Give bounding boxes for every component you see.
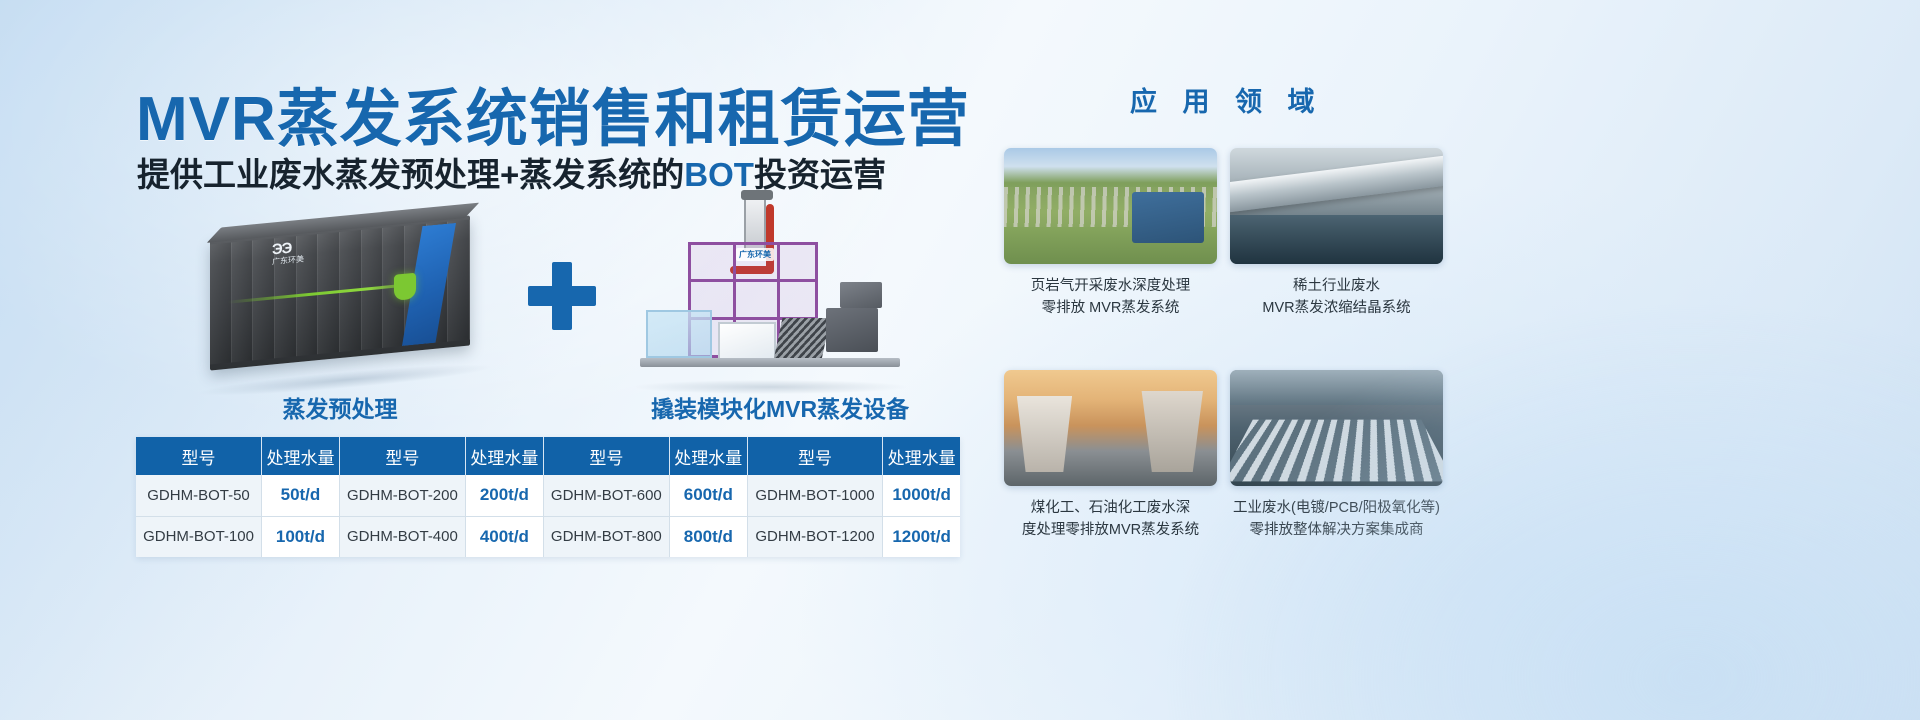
table-cell-capacity: 800t/d [669, 516, 747, 557]
subtitle-highlight-bot: BOT [684, 156, 754, 193]
plus-icon [528, 262, 596, 330]
product-caption-pretreatment: 蒸发预处理 [210, 390, 470, 424]
wastewater-basin-photo [1230, 370, 1443, 486]
table-cell-model: GDHM-BOT-600 [543, 475, 669, 516]
table-cell-model: GDHM-BOT-200 [339, 475, 465, 516]
table-row: GDHM-BOT-50 50t/d GDHM-BOT-200 200t/d GD… [136, 475, 960, 516]
table-cell-model: GDHM-BOT-50 [136, 475, 262, 516]
table-header-cell: 处理水量 [883, 437, 960, 475]
application-card-caption: 工业废水(电镀/PCB/阳极氧化等) 零排放整体解决方案集成商 [1230, 497, 1443, 542]
coal-chemical-plant-photo [1004, 370, 1217, 486]
application-card-caption: 稀土行业废水 MVR蒸发浓缩结晶系统 [1230, 275, 1443, 320]
page-title: MVR蒸发系统销售和租赁运营 [136, 68, 970, 158]
table-header-cell: 型号 [747, 437, 883, 475]
table-cell-capacity: 100t/d [262, 516, 340, 557]
caption-line-2: MVR蒸发浓缩结晶系统 [1230, 297, 1443, 319]
model-capacity-table: 型号 处理水量 型号 处理水量 型号 处理水量 型号 处理水量 GDHM-BOT… [136, 437, 960, 557]
table-cell-capacity: 1000t/d [883, 475, 960, 516]
table-cell-capacity: 50t/d [262, 475, 340, 516]
table-cell-model: GDHM-BOT-1200 [747, 516, 883, 557]
table-header-cell: 型号 [543, 437, 669, 475]
rig-skid-deck [640, 358, 900, 367]
skid-mvr-equipment-image: 广东环美 [640, 190, 920, 390]
table-cell-model: GDHM-BOT-100 [136, 516, 262, 557]
applications-title: 应 用 领 域 [1130, 80, 1324, 119]
table-row: GDHM-BOT-100 100t/d GDHM-BOT-400 400t/d … [136, 516, 960, 557]
caption-line-1: 煤化工、石油化工废水深 [1004, 497, 1217, 519]
caption-line-2: 零排放整体解决方案集成商 [1230, 519, 1443, 541]
caption-line-1: 稀土行业废水 [1230, 275, 1443, 297]
application-card-caption: 煤化工、石油化工废水深 度处理零排放MVR蒸发系统 [1004, 497, 1217, 542]
mvr-promo-banner: MVR蒸发系统销售和租赁运营 提供工业废水蒸发预处理+蒸发系统的BOT投资运营 … [0, 0, 1920, 720]
product-caption-skid-mvr: 撬装模块化MVR蒸发设备 [610, 390, 950, 424]
application-card[interactable]: 工业废水(电镀/PCB/阳极氧化等) 零排放整体解决方案集成商 [1230, 370, 1443, 542]
application-card[interactable]: 煤化工、石油化工废水深 度处理零排放MVR蒸发系统 [1004, 370, 1217, 542]
caption-line-1: 工业废水(电镀/PCB/阳极氧化等) [1230, 497, 1443, 519]
table-header-cell: 型号 [339, 437, 465, 475]
table-cell-model: GDHM-BOT-400 [339, 516, 465, 557]
rig-heat-exchanger [774, 318, 831, 360]
table-header-cell: 处理水量 [262, 437, 340, 475]
table-header-row: 型号 处理水量 型号 处理水量 型号 处理水量 型号 处理水量 [136, 437, 960, 475]
application-card-caption: 页岩气开采废水深度处理 零排放 MVR蒸发系统 [1004, 275, 1217, 320]
table-cell-model: GDHM-BOT-800 [543, 516, 669, 557]
table-header-cell: 型号 [136, 437, 262, 475]
application-card[interactable]: 页岩气开采废水深度处理 零排放 MVR蒸发系统 [1004, 148, 1217, 320]
shale-gas-field-photo [1004, 148, 1217, 264]
rig-brand-badge: 广东环美 [736, 248, 774, 261]
table-cell-model: GDHM-BOT-1000 [747, 475, 883, 516]
application-card[interactable]: 稀土行业废水 MVR蒸发浓缩结晶系统 [1230, 148, 1443, 320]
caption-line-2: 度处理零排放MVR蒸发系统 [1004, 519, 1217, 541]
table-cell-capacity: 600t/d [669, 475, 747, 516]
subtitle-text-post: 投资运营 [754, 156, 886, 193]
evaporation-pretreatment-image: ЭЭ 广东环美 [210, 215, 470, 370]
table-cell-capacity: 200t/d [465, 475, 543, 516]
caption-line-2: 零排放 MVR蒸发系统 [1004, 297, 1217, 319]
rig-control-box [826, 308, 878, 352]
table-header-cell: 处理水量 [669, 437, 747, 475]
table-cell-capacity: 400t/d [465, 516, 543, 557]
subtitle-text-pre: 提供工业废水蒸发预处理+蒸发系统的 [137, 156, 684, 193]
left-content-column: MVR蒸发系统销售和租赁运营 提供工业废水蒸发预处理+蒸发系统的BOT投资运营 … [0, 0, 980, 720]
rig-white-tank [718, 322, 776, 360]
table-cell-capacity: 1200t/d [883, 516, 960, 557]
rig-control-box-upper [840, 282, 882, 308]
page-subtitle: 提供工业废水蒸发预处理+蒸发系统的BOT投资运营 [137, 148, 886, 196]
rig-clear-tank [646, 310, 712, 358]
table-header-cell: 处理水量 [465, 437, 543, 475]
caption-line-1: 页岩气开采废水深度处理 [1004, 275, 1217, 297]
industrial-pipe-photo [1230, 148, 1443, 264]
